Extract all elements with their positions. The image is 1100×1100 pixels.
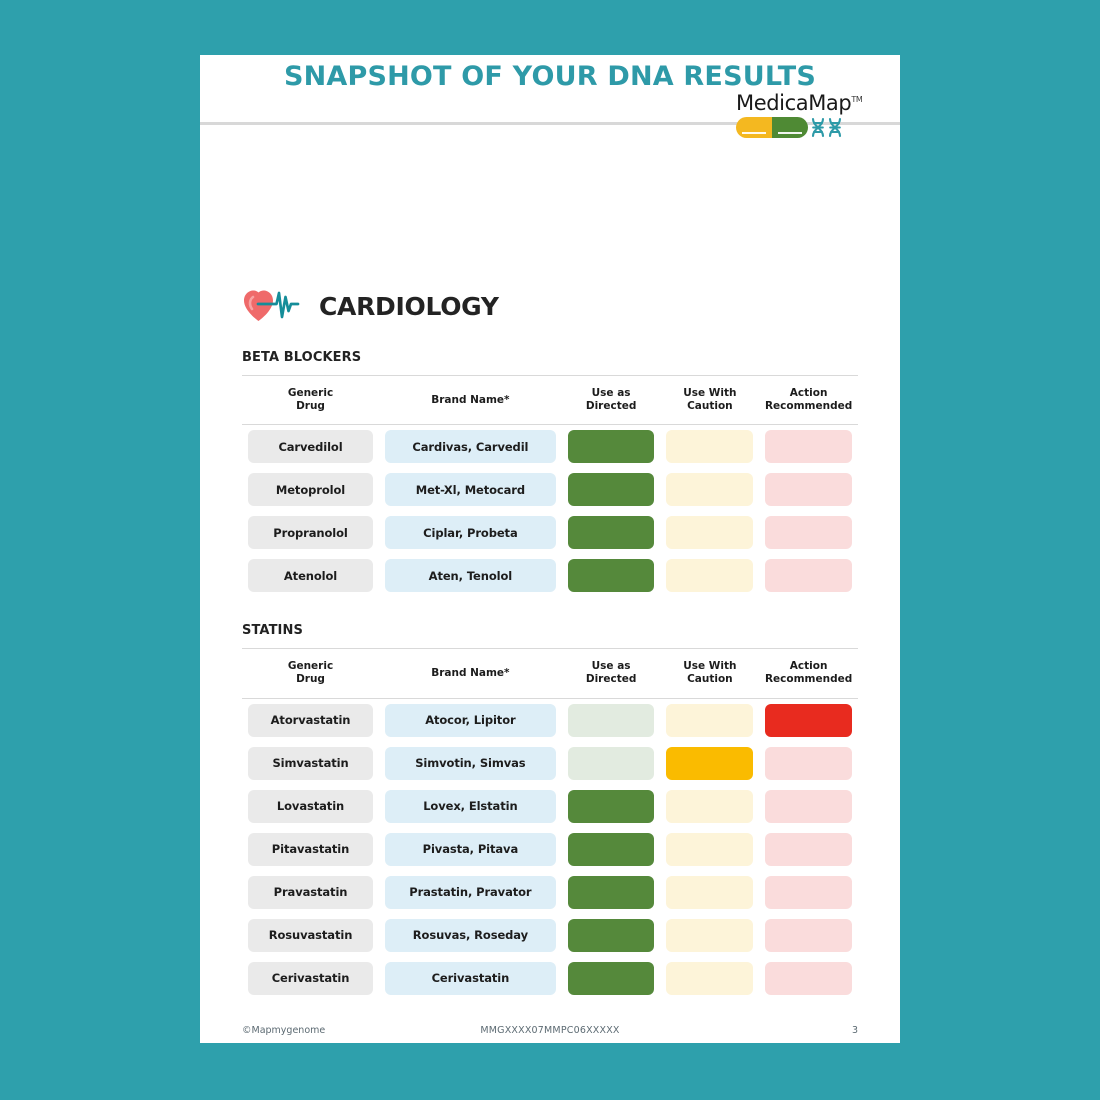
brand-drug-name: Atocor, Lipitor [385,704,556,737]
dna-helix-icon [810,117,850,138]
brand-drug-name: Cerivastatin [385,962,556,995]
cell-use-as-directed [562,871,661,914]
cell-use-as-directed [562,785,661,828]
table-row: SimvastatinSimvotin, Simvas [242,742,858,785]
cell-generic-drug: Lovastatin [242,785,379,828]
status-pill-use-as-directed [568,919,655,952]
table-row: LovastatinLovex, Elstatin [242,785,858,828]
cell-action-recommended [759,698,858,742]
status-pill-use-with-caution [666,790,753,823]
title-block: SNAPSHOT OF YOUR DNA RESULTS [200,55,900,92]
status-pill-action-recommended [765,559,852,592]
page-footer: ©Mapmygenome MMGXXXX07MMPC06XXXXX 3 [242,1000,858,1048]
cell-action-recommended [759,468,858,511]
status-pill-use-as-directed [568,473,655,506]
generic-drug-name: Carvedilol [248,430,373,463]
cell-generic-drug: Atorvastatin [242,698,379,742]
cell-brand-name: Atocor, Lipitor [379,698,562,742]
column-header-brand-name: Brand Name* [379,649,562,698]
cell-use-with-caution [660,468,759,511]
capsule-icon [736,117,808,138]
generic-drug-name: Rosuvastatin [248,919,373,952]
logo-wordmark-text: MedicaMap [736,91,851,115]
column-header-use-as-directed: Use asDirected [562,649,661,698]
table-row: MetoprololMet-Xl, Metocard [242,468,858,511]
brand-drug-name: Rosuvas, Roseday [385,919,556,952]
logo-artwork [732,117,862,138]
cell-brand-name: Ciplar, Probeta [379,511,562,554]
cell-use-with-caution [660,742,759,785]
brand-drug-name: Prastatin, Pravator [385,876,556,909]
cell-action-recommended [759,554,858,597]
generic-drug-name: Pravastatin [248,876,373,909]
generic-drug-name: Atorvastatin [248,704,373,737]
status-pill-use-with-caution [666,473,753,506]
cell-action-recommended [759,742,858,785]
status-pill-use-as-directed [568,516,655,549]
brand-drug-name: Pivasta, Pitava [385,833,556,866]
section-header-cardiology: CARDIOLOGY [242,287,858,325]
cell-use-as-directed [562,957,661,1000]
cell-brand-name: Prastatin, Pravator [379,871,562,914]
cell-action-recommended [759,957,858,1000]
status-pill-use-with-caution [666,833,753,866]
report-page: MedicaMapTM [200,55,900,1043]
footer-document-code: MMGXXXX07MMPC06XXXXX [447,1025,652,1036]
status-pill-action-recommended [765,876,852,909]
column-header-action-recommended: ActionRecommended [759,376,858,425]
cell-action-recommended [759,425,858,469]
cell-generic-drug: Metoprolol [242,468,379,511]
brand-drug-name: Aten, Tenolol [385,559,556,592]
status-pill-use-as-directed [568,962,655,995]
heart-ekg-icon [242,287,312,325]
cell-brand-name: Pivasta, Pitava [379,828,562,871]
cell-action-recommended [759,828,858,871]
status-pill-use-as-directed [568,559,655,592]
trademark-icon: TM [851,95,862,104]
status-pill-action-recommended [765,430,852,463]
drug-table: GenericDrugBrand Name*Use asDirectedUse … [242,648,858,999]
cell-use-with-caution [660,554,759,597]
drug-table: GenericDrugBrand Name*Use asDirectedUse … [242,375,858,597]
cell-action-recommended [759,914,858,957]
footer-page-number: 3 [653,1025,858,1036]
cell-use-as-directed [562,425,661,469]
cell-generic-drug: Pitavastatin [242,828,379,871]
cell-use-with-caution [660,871,759,914]
status-pill-use-with-caution [666,559,753,592]
drug-table-label: BETA BLOCKERS [242,350,858,365]
status-pill-use-as-directed [568,747,655,780]
cell-use-as-directed [562,698,661,742]
status-pill-action-recommended [765,919,852,952]
brand-drug-name: Cardivas, Carvedil [385,430,556,463]
logo-wordmark: MedicaMapTM [732,93,862,114]
cell-generic-drug: Rosuvastatin [242,914,379,957]
capsule-right-half [772,117,808,138]
capsule-left-half [736,117,772,138]
cell-use-with-caution [660,914,759,957]
table-header-row: GenericDrugBrand Name*Use asDirectedUse … [242,376,858,425]
cell-use-as-directed [562,511,661,554]
brand-drug-name: Lovex, Elstatin [385,790,556,823]
table-row: CerivastatinCerivastatin [242,957,858,1000]
column-header-use-with-caution: Use WithCaution [660,376,759,425]
cell-brand-name: Lovex, Elstatin [379,785,562,828]
cell-use-with-caution [660,425,759,469]
drug-table-block: BETA BLOCKERSGenericDrugBrand Name*Use a… [242,350,858,597]
brand-drug-name: Ciplar, Probeta [385,516,556,549]
page-title: SNAPSHOT OF YOUR DNA RESULTS [200,61,900,92]
column-header-generic-drug: GenericDrug [242,649,379,698]
status-pill-action-recommended [765,833,852,866]
status-pill-action-recommended [765,790,852,823]
cell-generic-drug: Pravastatin [242,871,379,914]
status-pill-use-as-directed [568,790,655,823]
status-pill-use-with-caution [666,919,753,952]
cell-use-with-caution [660,785,759,828]
cell-use-as-directed [562,468,661,511]
cell-action-recommended [759,785,858,828]
status-pill-action-recommended [765,473,852,506]
status-pill-action-recommended [765,962,852,995]
generic-drug-name: Pitavastatin [248,833,373,866]
cell-brand-name: Rosuvas, Roseday [379,914,562,957]
status-pill-use-as-directed [568,833,655,866]
column-header-use-with-caution: Use WithCaution [660,649,759,698]
cell-use-with-caution [660,698,759,742]
status-pill-action-recommended [765,704,852,737]
brand-drug-name: Simvotin, Simvas [385,747,556,780]
page-body: CARDIOLOGY BETA BLOCKERSGenericDrugBrand… [200,247,900,1000]
cell-brand-name: Met-Xl, Metocard [379,468,562,511]
generic-drug-name: Cerivastatin [248,962,373,995]
status-pill-use-with-caution [666,962,753,995]
drug-table-block: STATINSGenericDrugBrand Name*Use asDirec… [242,623,858,999]
generic-drug-name: Atenolol [248,559,373,592]
cell-use-as-directed [562,828,661,871]
cell-use-as-directed [562,914,661,957]
status-pill-use-with-caution [666,704,753,737]
cell-action-recommended [759,511,858,554]
column-header-generic-drug: GenericDrug [242,376,379,425]
table-row: AtenololAten, Tenolol [242,554,858,597]
column-header-use-as-directed: Use asDirected [562,376,661,425]
cell-generic-drug: Carvedilol [242,425,379,469]
tables-container: BETA BLOCKERSGenericDrugBrand Name*Use a… [242,350,858,1000]
cell-use-as-directed [562,554,661,597]
generic-drug-name: Metoprolol [248,473,373,506]
cell-generic-drug: Propranolol [242,511,379,554]
status-pill-use-with-caution [666,747,753,780]
status-pill-use-with-caution [666,876,753,909]
status-pill-use-with-caution [666,430,753,463]
generic-drug-name: Simvastatin [248,747,373,780]
generic-drug-name: Propranolol [248,516,373,549]
cell-generic-drug: Atenolol [242,554,379,597]
status-pill-use-as-directed [568,704,655,737]
table-row: CarvedilolCardivas, Carvedil [242,425,858,469]
cell-use-as-directed [562,742,661,785]
section-title: CARDIOLOGY [319,292,499,321]
brand-drug-name: Met-Xl, Metocard [385,473,556,506]
generic-drug-name: Lovastatin [248,790,373,823]
cell-use-with-caution [660,828,759,871]
cell-brand-name: Simvotin, Simvas [379,742,562,785]
medicamap-logo: MedicaMapTM [732,93,862,138]
table-row: AtorvastatinAtocor, Lipitor [242,698,858,742]
cell-brand-name: Cardivas, Carvedil [379,425,562,469]
cell-generic-drug: Simvastatin [242,742,379,785]
cell-brand-name: Cerivastatin [379,957,562,1000]
cell-action-recommended [759,871,858,914]
cell-use-with-caution [660,957,759,1000]
column-header-brand-name: Brand Name* [379,376,562,425]
table-row: PitavastatinPivasta, Pitava [242,828,858,871]
drug-table-label: STATINS [242,623,858,638]
footer-copyright: ©Mapmygenome [242,1025,447,1036]
table-row: PropranololCiplar, Probeta [242,511,858,554]
page-header: MedicaMapTM [200,55,900,247]
cell-use-with-caution [660,511,759,554]
status-pill-action-recommended [765,747,852,780]
status-pill-use-as-directed [568,876,655,909]
column-header-action-recommended: ActionRecommended [759,649,858,698]
status-pill-use-as-directed [568,430,655,463]
table-row: PravastatinPrastatin, Pravator [242,871,858,914]
table-row: RosuvastatinRosuvas, Roseday [242,914,858,957]
status-pill-use-with-caution [666,516,753,549]
table-header-row: GenericDrugBrand Name*Use asDirectedUse … [242,649,858,698]
cell-generic-drug: Cerivastatin [242,957,379,1000]
cell-brand-name: Aten, Tenolol [379,554,562,597]
status-pill-action-recommended [765,516,852,549]
